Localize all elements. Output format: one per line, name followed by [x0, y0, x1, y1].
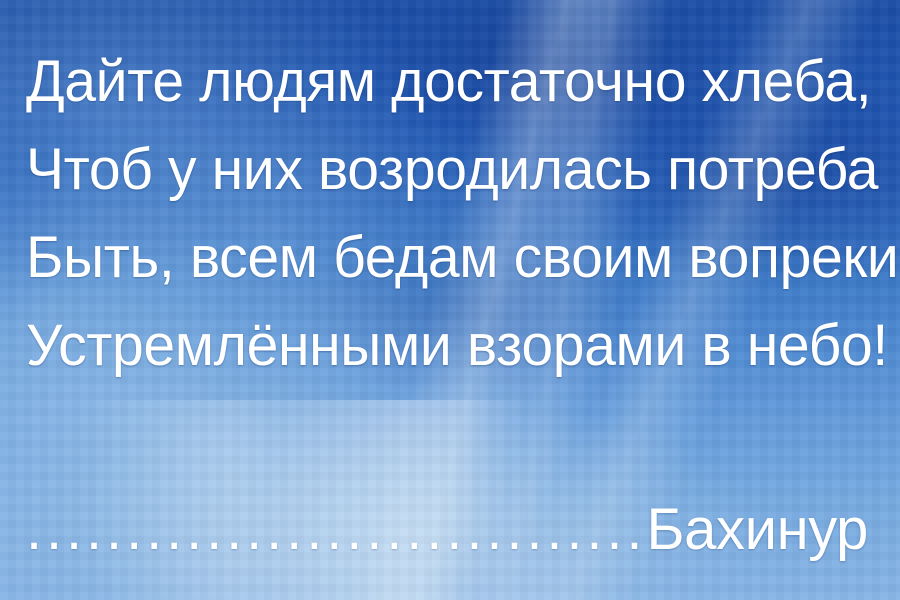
signature-author-name: Бахинур [646, 498, 868, 562]
poem-line-1: Дайте людям достаточно хлеба, [26, 38, 873, 126]
signature-block: ............................... Бахинур [26, 498, 886, 562]
quote-card: Дайте людям достаточно хлеба, Чтоб у них… [0, 0, 900, 600]
poem-text-block: Дайте людям достаточно хлеба, Чтоб у них… [26, 38, 886, 390]
poem-line-2: Чтоб у них возродилась потреба [26, 126, 873, 214]
signature-leader-dots: ............................... [26, 498, 646, 562]
poem-line-4: Устремлёнными взорами в небо! [26, 302, 873, 390]
poem-line-3: Быть, всем бедам своим вопреки, [26, 214, 873, 302]
